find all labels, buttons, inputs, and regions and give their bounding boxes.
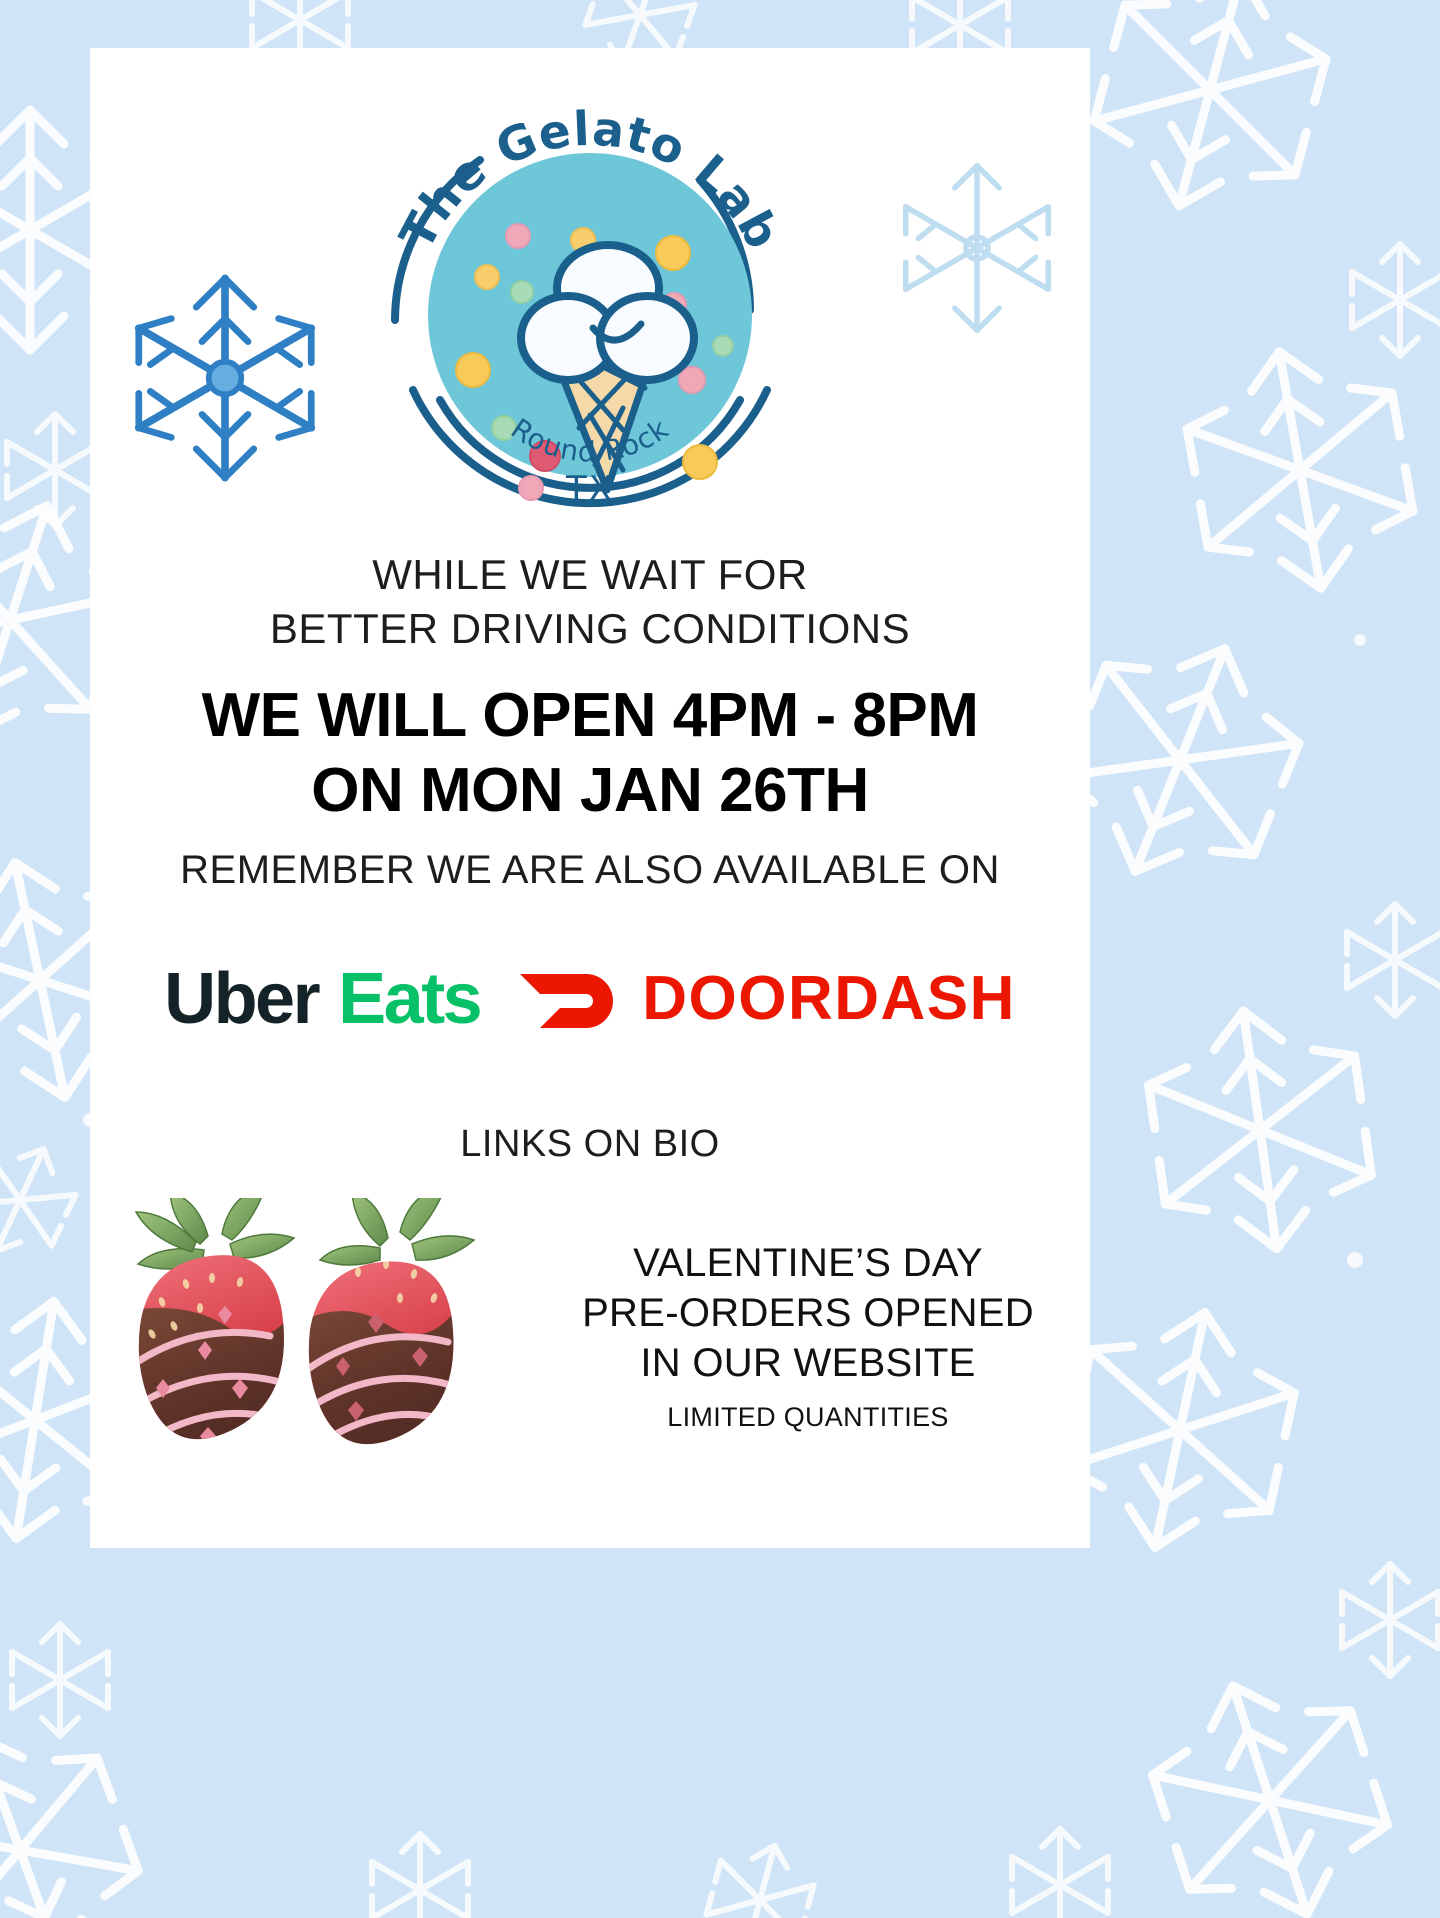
hero-line-2: ON MON JAN 26TH xyxy=(90,753,1090,828)
snowflake-icon xyxy=(882,153,1072,343)
links-on-bio-note: LINKS ON BIO xyxy=(90,1123,1090,1166)
ubereats-eats-word: Eats xyxy=(338,959,480,1039)
doordash-logo[interactable]: DOORDASH xyxy=(518,968,1016,1030)
ubereats-logo[interactable]: UberEats xyxy=(164,963,480,1035)
promo-note: LIMITED QUANTITIES xyxy=(548,1402,1068,1433)
hero-message: WE WILL OPEN 4PM - 8PM ON MON JAN 26TH xyxy=(90,678,1090,828)
availability-message: REMEMBER WE ARE ALSO AVAILABLE ON xyxy=(90,848,1090,893)
promo-line-2: PRE-ORDERS OPENED xyxy=(548,1288,1068,1338)
intro-line-2: BETTER DRIVING CONDITIONS xyxy=(90,602,1090,656)
promo-line-1: VALENTINE’S DAY xyxy=(548,1238,1068,1288)
valentines-promo: VALENTINE’S DAY PRE-ORDERS OPENED IN OUR… xyxy=(548,1238,1068,1433)
intro-message: WHILE WE WAIT FOR BETTER DRIVING CONDITI… xyxy=(90,548,1090,656)
promo-line-3: IN OUR WEBSITE xyxy=(548,1338,1068,1388)
gelato-lab-logo: The Gelato Lab Round Rock TX xyxy=(355,70,825,540)
delivery-partners: UberEats DOORDASH xyxy=(90,963,1090,1035)
poster-card: The Gelato Lab Round Rock TX WHILE WE WA… xyxy=(90,48,1090,1548)
ubereats-uber-word: Uber xyxy=(164,959,318,1039)
logo-state-text: TX xyxy=(565,469,614,509)
poster-canvas: The Gelato Lab Round Rock TX WHILE WE WA… xyxy=(0,0,1440,1918)
intro-line-1: WHILE WE WAIT FOR xyxy=(90,548,1090,602)
doordash-dash-icon xyxy=(518,970,626,1028)
chocolate-strawberries-icon xyxy=(100,1198,490,1478)
snowflake-icon xyxy=(110,263,340,493)
hero-line-1: WE WILL OPEN 4PM - 8PM xyxy=(90,678,1090,753)
doordash-wordmark: DOORDASH xyxy=(642,968,1016,1030)
